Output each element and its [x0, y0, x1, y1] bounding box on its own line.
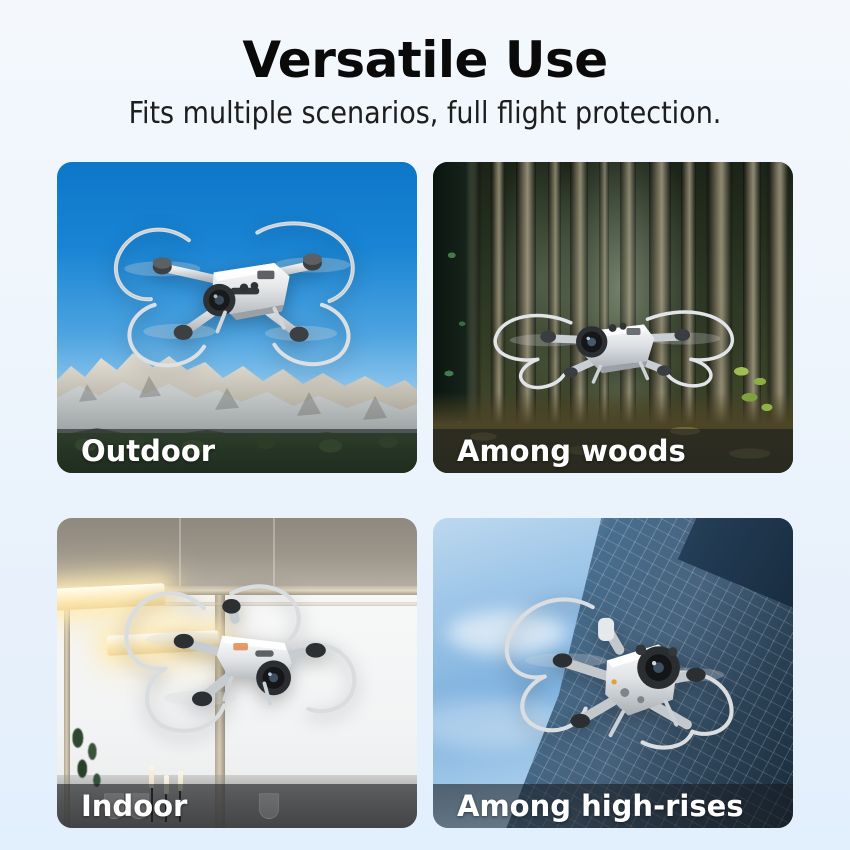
drone-with-propeller-guards-icon [447, 274, 778, 405]
card-label-outdoor: Outdoor [57, 434, 215, 468]
indoor-scene-image [57, 518, 417, 828]
page-subtitle: Fits multiple scenarios, full flight pro… [0, 93, 850, 135]
outdoor-scene-image [57, 162, 417, 473]
card-label-indoor: Indoor [57, 789, 187, 823]
card-label-bar: Indoor [57, 784, 417, 828]
page-title: Versatile Use [0, 31, 850, 89]
header: Versatile Use Fits multiple scenarios, f… [0, 0, 850, 135]
scenario-card-indoor[interactable]: Indoor [57, 518, 417, 828]
scenario-card-outdoor[interactable]: Outdoor [57, 162, 417, 473]
scenario-card-grid: Outdoor [57, 162, 793, 828]
drone-with-propeller-guards-icon [89, 206, 391, 377]
scenario-card-among-high-rises[interactable]: Among high-rises [433, 518, 793, 828]
card-label-bar: Among woods [433, 429, 793, 473]
woods-scene-image [433, 162, 793, 473]
card-label-bar: Among high-rises [433, 784, 793, 828]
card-label-among-woods: Among woods [433, 434, 686, 468]
high-rises-scene-image [433, 518, 793, 828]
card-label-among-high-rises: Among high-rises [433, 789, 744, 823]
drone-with-propeller-guards-icon [444, 568, 782, 773]
drone-with-propeller-guards-icon [75, 555, 406, 766]
product-feature-page: Versatile Use Fits multiple scenarios, f… [0, 0, 850, 850]
card-label-bar: Outdoor [57, 429, 417, 473]
scenario-card-among-woods[interactable]: Among woods [433, 162, 793, 473]
